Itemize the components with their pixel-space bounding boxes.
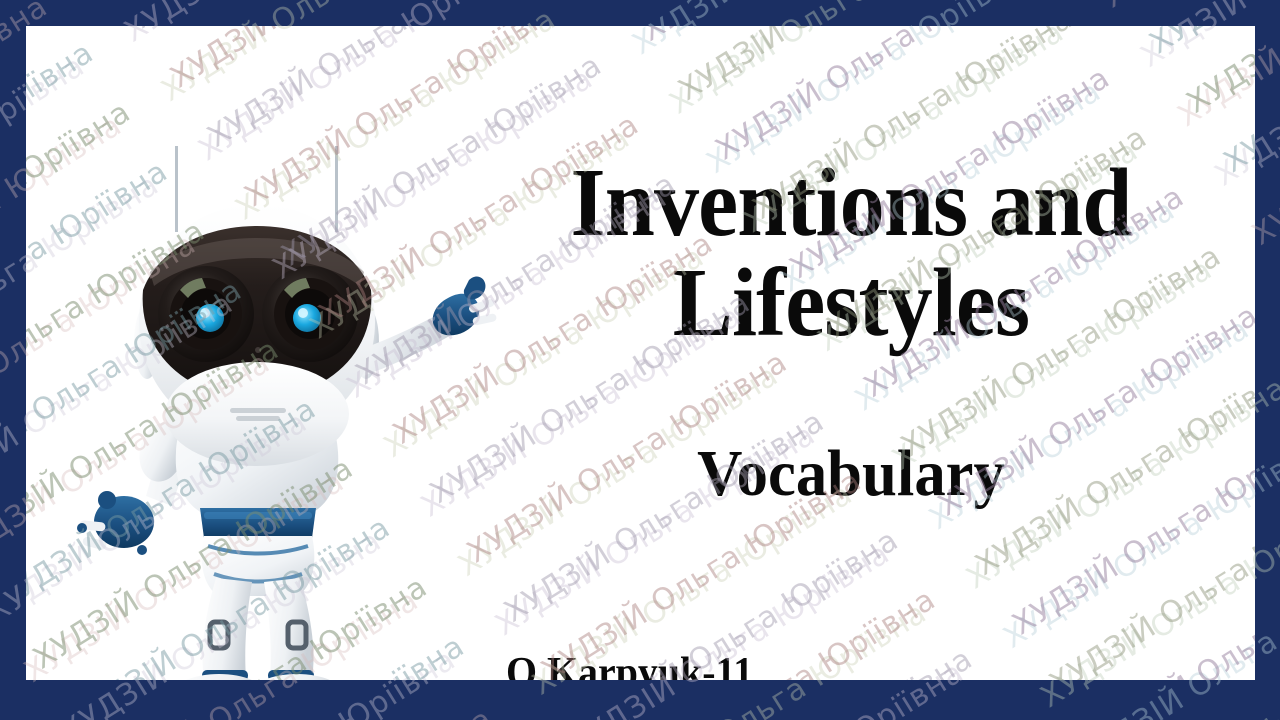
presentation-slide: Inventions and Lifestyles Vocabulary O.K… [0,0,1280,720]
page-subtitle: Vocabulary [476,441,1227,507]
robot-antenna-right [335,146,338,232]
robot-waist-band [200,508,316,538]
watermark-text: ХУДЗІЙ Ольга Юріївна [589,0,922,3]
watermark-text: ХУДЗІЙ Ольга Юріївна [675,714,1008,720]
robot-head [139,204,375,466]
robot-antenna-left [175,146,178,232]
page-title: Inventions and Lifestyles [488,154,1215,354]
robot-eye-right [262,266,358,362]
robot-hand-left [77,491,154,555]
slide-canvas: Inventions and Lifestyles Vocabulary O.K… [26,26,1255,680]
watermark-text: ХУДЗІЙ Ольга Юріївна [1098,0,1280,15]
author-label: O.Karpyuk-11 [506,652,753,680]
watermark-text: ХУДЗІЙ Ольга Юріївна [0,0,17,155]
robot-foot-left [173,674,265,680]
watermark-text: ХУДЗІЙ Ольга Юріївна [167,701,500,720]
robot-foot-right [251,674,343,680]
robot-eye-left [158,266,254,362]
robot-mascot-illustration [54,122,524,680]
